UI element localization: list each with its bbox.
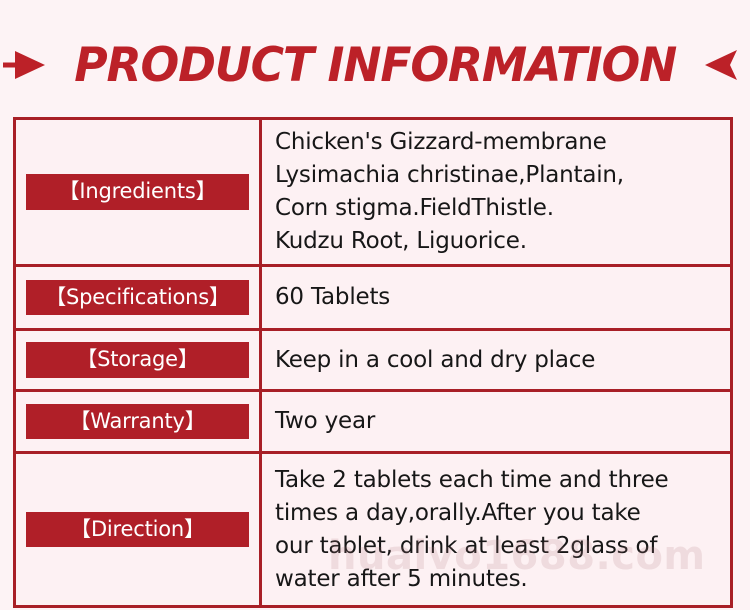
value-line: Corn stigma.FieldThistle. bbox=[275, 192, 722, 225]
row-value-cell: Two year bbox=[262, 392, 730, 451]
page-header: PRODUCT INFORMATION bbox=[0, 34, 750, 96]
value-line: Keep in a cool and dry place bbox=[275, 344, 722, 377]
value-line: Take 2 tablets each time and three bbox=[275, 464, 722, 497]
page-title: PRODUCT INFORMATION bbox=[74, 42, 676, 89]
row-value-cell: 60 Tablets bbox=[262, 267, 730, 328]
status-badge: 【Ingredients】 bbox=[26, 174, 249, 210]
table-row: 【Direction】 Take 2 tablets each time and… bbox=[16, 454, 730, 605]
row-value-cell: Take 2 tablets each time and three times… bbox=[262, 454, 730, 605]
value-line: Two year bbox=[275, 405, 722, 438]
value-line: Chicken's Gizzard-membrane bbox=[275, 126, 722, 159]
row-label-cell: 【Ingredients】 bbox=[16, 120, 262, 264]
value-line: water after 5 minutes. bbox=[275, 563, 722, 596]
table-row: 【Storage】 Keep in a cool and dry place bbox=[16, 331, 730, 392]
row-value-cell: Chicken's Gizzard-membrane Lysimachia ch… bbox=[262, 120, 730, 264]
table-row: 【Warranty】 Two year bbox=[16, 392, 730, 454]
value-line: Kudzu Root, Liguorice. bbox=[275, 225, 722, 258]
value-line: Lysimachia christinae,Plantain, bbox=[275, 159, 722, 192]
triangle-right-icon bbox=[3, 48, 47, 82]
status-badge: 【Warranty】 bbox=[26, 404, 249, 440]
value-line: times a day,orally.After you take bbox=[275, 497, 722, 530]
row-value-cell: Keep in a cool and dry place bbox=[262, 331, 730, 389]
triangle-left-icon bbox=[703, 48, 747, 82]
product-information-table: 【Ingredients】 Chicken's Gizzard-membrane… bbox=[13, 117, 733, 608]
value-line: 60 Tablets bbox=[275, 281, 722, 314]
status-badge: 【Specifications】 bbox=[26, 280, 249, 316]
status-badge: 【Direction】 bbox=[26, 512, 249, 548]
row-label-cell: 【Warranty】 bbox=[16, 392, 262, 451]
table-row: 【Ingredients】 Chicken's Gizzard-membrane… bbox=[16, 120, 730, 267]
table-row: 【Specifications】 60 Tablets bbox=[16, 267, 730, 331]
value-line: our tablet, drink at least 2glass of bbox=[275, 530, 722, 563]
row-label-cell: 【Specifications】 bbox=[16, 267, 262, 328]
status-badge: 【Storage】 bbox=[26, 342, 249, 378]
row-label-cell: 【Storage】 bbox=[16, 331, 262, 389]
row-label-cell: 【Direction】 bbox=[16, 454, 262, 605]
